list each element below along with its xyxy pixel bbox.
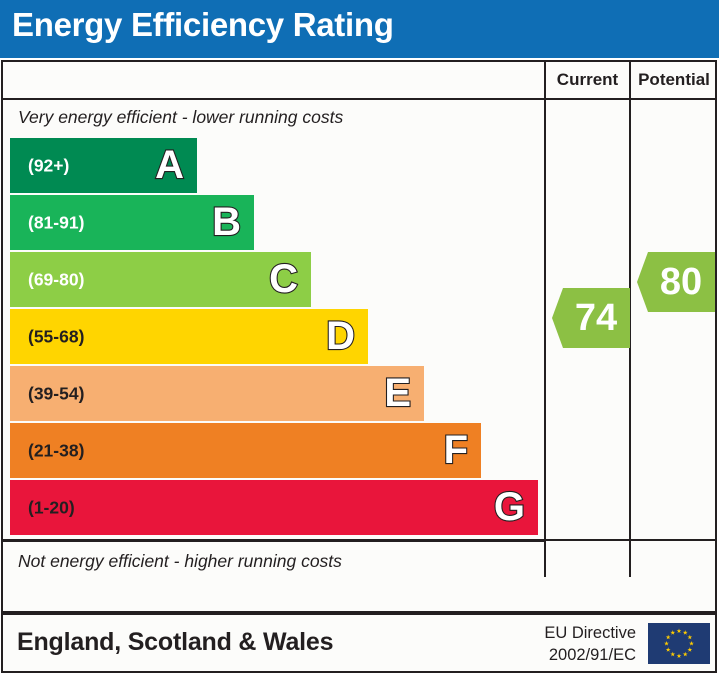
caption-inefficient-row: Not energy efficient - higher running co…: [3, 540, 544, 579]
eu-flag-icon: [648, 623, 710, 664]
potential-rating-value: 80: [660, 263, 702, 301]
band-letter-d: D: [326, 316, 355, 356]
chart-frame: Current Potential Very energy efficient …: [1, 60, 717, 613]
band-range-label: (92+): [28, 155, 69, 176]
rating-band-d: (55-68)D: [10, 309, 368, 364]
band-letter-e: E: [384, 373, 411, 413]
rating-band-a: (92+)A: [10, 138, 197, 193]
rating-band-f: (21-38)F: [10, 423, 481, 478]
band-letter-f: F: [444, 430, 468, 470]
rating-bands: (92+)A(81-91)B(69-80)C(55-68)D(39-54)E(2…: [3, 138, 544, 538]
caption-efficient: Very energy efficient - lower running co…: [18, 107, 343, 128]
eu-directive-line-2: 2002/91/EC: [521, 645, 636, 667]
column-header-potential: Potential: [629, 62, 717, 98]
caption-inefficient: Not energy efficient - higher running co…: [18, 551, 342, 572]
band-range-label: (81-91): [28, 212, 84, 233]
band-letter-g: G: [494, 487, 525, 527]
band-range-label: (39-54): [28, 383, 84, 404]
region-label: England, Scotland & Wales: [17, 628, 333, 657]
rating-band-g: (1-20)G: [10, 480, 538, 535]
caption-efficient-row: Very energy efficient - lower running co…: [3, 100, 544, 137]
current-rating-value: 74: [575, 299, 617, 337]
band-letter-b: B: [212, 202, 241, 242]
rating-band-e: (39-54)E: [10, 366, 424, 421]
band-range-label: (21-38): [28, 440, 84, 461]
column-header-row: Current Potential: [3, 62, 715, 100]
energy-efficiency-rating-certificate: Energy Efficiency Rating Current Potenti…: [0, 0, 719, 675]
band-range-label: (1-20): [28, 497, 75, 518]
band-letter-a: A: [155, 145, 184, 185]
current-rating-arrow: 74: [552, 288, 630, 348]
rating-band-b: (81-91)B: [10, 195, 254, 250]
column-divider-current: [544, 100, 546, 577]
band-letter-c: C: [269, 259, 298, 299]
column-header-current: Current: [544, 62, 629, 98]
certificate-footer: England, Scotland & Wales EU Directive 2…: [1, 613, 717, 673]
eu-directive-label: EU Directive 2002/91/EC: [521, 623, 636, 667]
potential-rating-arrow: 80: [637, 252, 715, 312]
eu-directive-line-1: EU Directive: [521, 623, 636, 645]
certificate-title-bar: Energy Efficiency Rating: [0, 0, 719, 58]
band-range-label: (55-68): [28, 326, 84, 347]
page-title: Energy Efficiency Rating: [12, 6, 394, 44]
rating-band-c: (69-80)C: [10, 252, 311, 307]
band-range-label: (69-80): [28, 269, 84, 290]
